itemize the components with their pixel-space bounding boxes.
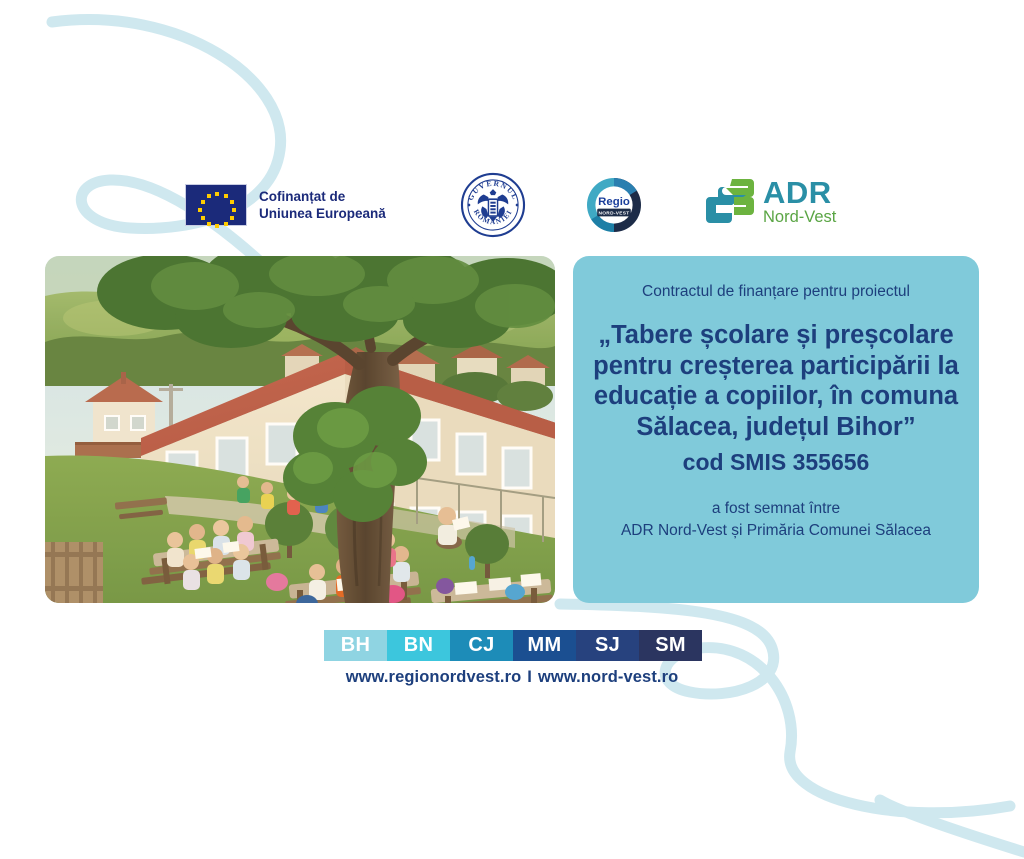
- adr-wordmark: ADR Nord-Vest: [763, 177, 836, 226]
- panel-intro-text: Contractul de finanțare pentru proiectul: [642, 282, 910, 302]
- signing-parties: ADR Nord-Vest și Primăria Comunei Sălace…: [621, 520, 931, 542]
- project-info-panel: Contractul de finanțare pentru proiectul…: [573, 256, 979, 603]
- adr-emblem-icon: [702, 177, 754, 225]
- county-badge-sm: SM: [639, 630, 702, 661]
- county-badge-bh: BH: [324, 630, 387, 661]
- adr-subtitle: Nord-Vest: [763, 209, 836, 226]
- county-codes-strip: BH BN CJ MM SJ SM: [324, 630, 702, 661]
- project-title: „Tabere școlare și preșcolare pentru cre…: [591, 320, 961, 442]
- poster-canvas: Cofinanțat de Uniunea Europeană GUVERNUL…: [0, 0, 1024, 859]
- county-badge-sj: SJ: [576, 630, 639, 661]
- partner-logo-row: Cofinanțat de Uniunea Europeană GUVERNUL…: [185, 172, 865, 238]
- regio-nord-vest-logo: Regio NORD-VEST: [583, 175, 645, 235]
- guvernul-romaniei-seal: GUVERNUL ROMÂNIEI: [460, 172, 526, 238]
- county-badge-mm: MM: [513, 630, 576, 661]
- website-separator: I: [521, 668, 538, 686]
- website-link-nordvest[interactable]: www.nord-vest.ro: [538, 668, 678, 686]
- county-badge-bn: BN: [387, 630, 450, 661]
- eu-flag-icon: [185, 184, 247, 226]
- signed-label: a fost semnat între: [712, 498, 840, 520]
- school-outdoor-classroom-photo: [45, 256, 555, 603]
- regio-main-text: Regio: [598, 196, 630, 208]
- regio-sub-text: NORD-VEST: [599, 210, 630, 216]
- eu-logo-text: Cofinanțat de Uniunea Europeană: [259, 188, 386, 223]
- county-badge-cj: CJ: [450, 630, 513, 661]
- smis-code: cod SMIS 355656: [683, 449, 870, 476]
- website-line: www.regionordvest.roIwww.nord-vest.ro: [0, 668, 1024, 687]
- eu-logo-line1: Cofinanțat de: [259, 188, 386, 205]
- website-link-regionordvest[interactable]: www.regionordvest.ro: [346, 668, 522, 686]
- adr-nord-vest-logo: ADR Nord-Vest: [702, 177, 836, 226]
- eu-flag-logo: Cofinanțat de Uniunea Europeană: [185, 184, 386, 226]
- eu-logo-line2: Uniunea Europeană: [259, 205, 386, 222]
- adr-title: ADR: [763, 177, 836, 208]
